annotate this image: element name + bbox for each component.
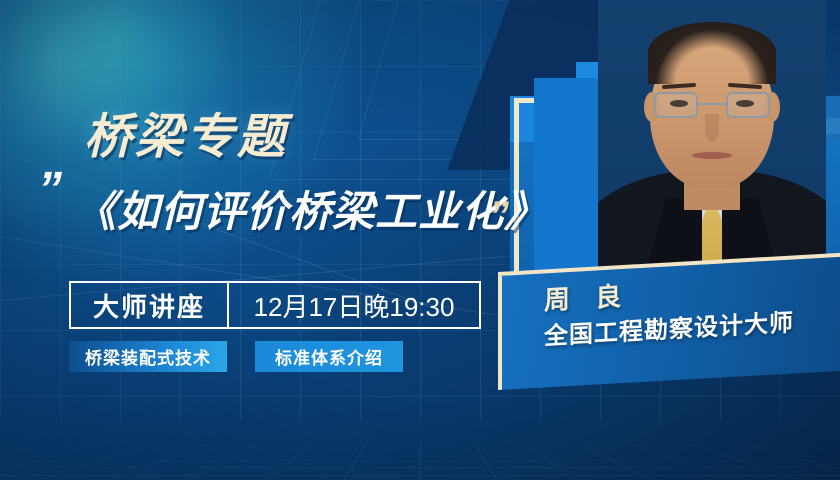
quote-close-mark: ” (489, 196, 509, 236)
photo-lens-right (726, 92, 770, 118)
topic-tag-list: 桥梁装配式技术 标准体系介绍 (69, 341, 403, 372)
speaker-photo (598, 0, 826, 296)
photo-nose (705, 114, 719, 142)
lecture-poster: 桥梁专题 ” 《如何评价桥梁工业化》 ” 大师讲座 12月17日晚19:30 桥… (0, 0, 840, 480)
photo-mouth (692, 152, 732, 159)
lecture-type-label: 大师讲座 (71, 283, 229, 327)
quote-open-mark: ” (38, 166, 62, 214)
lecture-info-box: 大师讲座 12月17日晚19:30 (69, 281, 481, 329)
topic-tag[interactable]: 标准体系介绍 (255, 341, 403, 372)
lecture-datetime: 12月17日晚19:30 (229, 283, 479, 327)
speaker-banner-content: 周 良 全国工程勘察设计大师 (498, 256, 840, 354)
page-title: 桥梁专题 (84, 97, 288, 167)
photo-glasses-bridge (698, 103, 726, 105)
speaker-banner: 周 良 全国工程勘察设计大师 (498, 252, 840, 390)
photo-hair (648, 22, 776, 84)
photo-lens-left (654, 92, 698, 118)
topic-tag[interactable]: 桥梁装配式技术 (69, 341, 227, 372)
page-subtitle: 《如何评价桥梁工业化》 (74, 178, 547, 239)
